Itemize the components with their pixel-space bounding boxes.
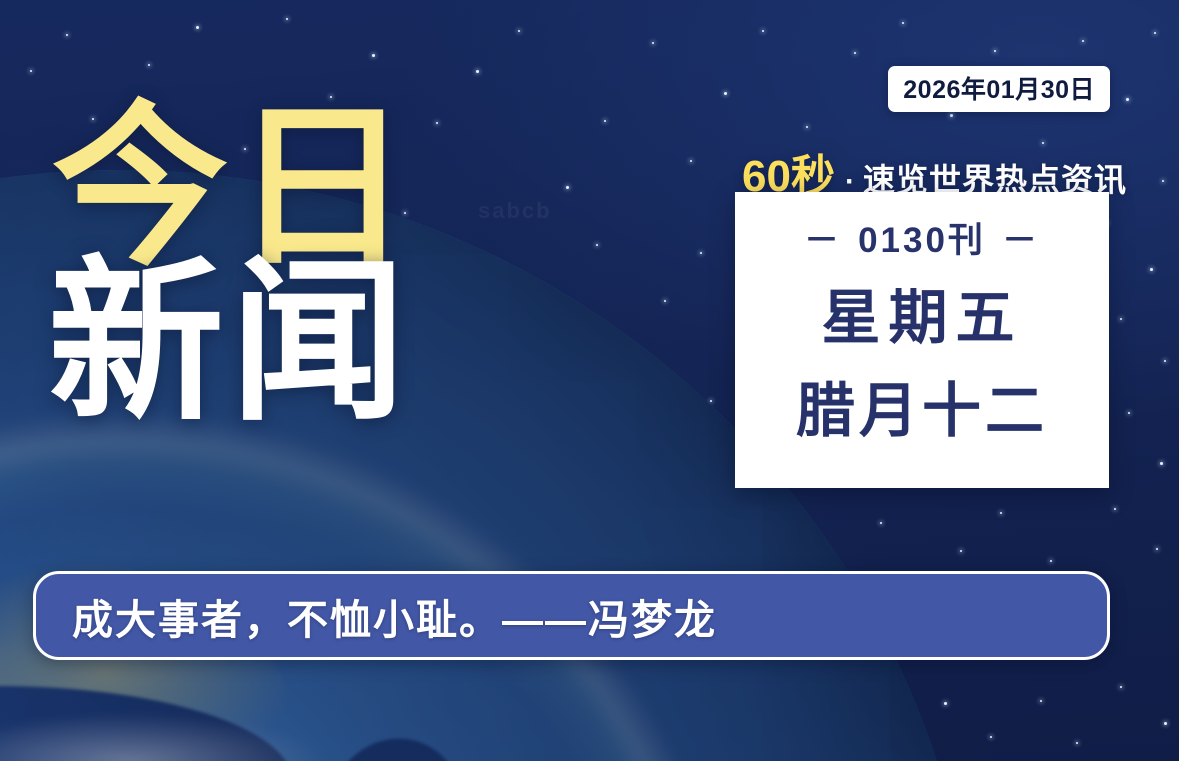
dash-right-icon: － [1002, 212, 1040, 263]
issue-number: 0130刊 [858, 212, 986, 263]
dash-left-icon: － [804, 212, 842, 263]
watermark-text: sabcb [478, 198, 552, 224]
headline: 今日 新闻 [52, 104, 472, 428]
quote-text: 成大事者，不恤小耻。——冯梦龙 [36, 586, 717, 646]
headline-line-news: 新闻 [48, 259, 472, 428]
news-poster: sabcb 今日 新闻 2026年01月30日 60秒 · 速览世界热点资讯 －… [0, 0, 1179, 761]
info-card: － 0130刊 － 星期五 腊月十二 [735, 192, 1109, 488]
lunar-date-label: 腊月十二 [796, 382, 1048, 441]
date-badge: 2026年01月30日 [888, 66, 1110, 112]
issue-row: － 0130刊 － [804, 212, 1040, 263]
quote-bar: 成大事者，不恤小耻。——冯梦龙 [33, 571, 1110, 660]
weekday-label: 星期五 [821, 289, 1022, 348]
